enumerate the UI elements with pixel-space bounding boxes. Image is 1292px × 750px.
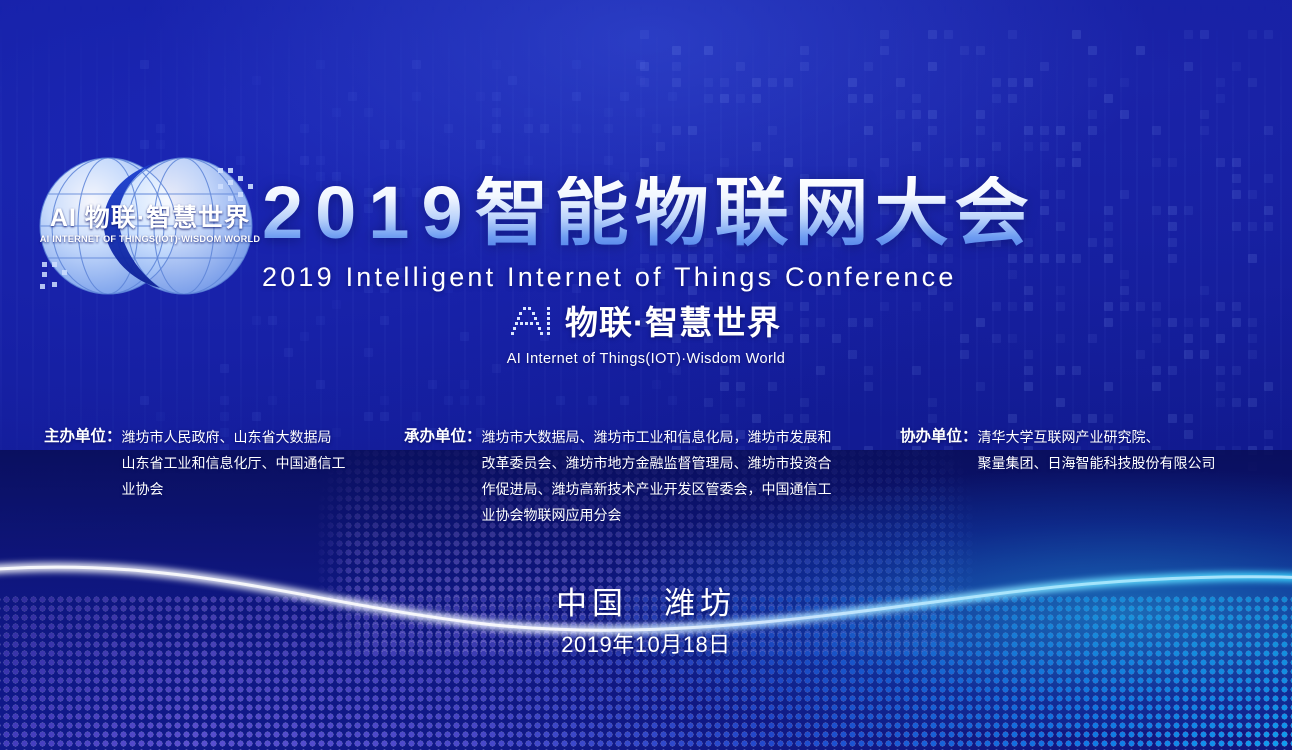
organizer-co: 协办单位： 清华大学互联网产业研究院、聚量集团、日海智能科技股份有限公司 bbox=[900, 424, 1280, 476]
main-title-english: 2019 Intelligent Internet of Things Conf… bbox=[262, 262, 1252, 293]
organizer-undertaker: 承办单位： 潍坊市大数据局、潍坊市工业和信息化局，潍坊市发展和改革委员会、潍坊市… bbox=[404, 424, 874, 528]
tagline-block: 物联·智慧世界 AI Internet of Things(IOT)·Wisdo… bbox=[0, 305, 1292, 367]
place-block: 中国 潍坊 2019年10月18日 bbox=[0, 585, 1292, 659]
organizer-undertaker-label: 承办单位： bbox=[404, 424, 482, 450]
organizer-host: 主办单位： 潍坊市人民政府、山东省大数据局山东省工业和信息化厅、中国通信工业协会 bbox=[44, 424, 404, 502]
main-title: 2019智能物联网大会 bbox=[262, 176, 1252, 250]
title-block: 2019智能物联网大会 2019 Intelligent Internet of… bbox=[262, 176, 1252, 293]
organizer-undertaker-value: 潍坊市大数据局、潍坊市工业和信息化局，潍坊市发展和改革委员会、潍坊市地方金融监督… bbox=[482, 424, 842, 528]
organizer-host-value: 潍坊市人民政府、山东省大数据局山东省工业和信息化厅、中国通信工业协会 bbox=[122, 424, 347, 502]
title-cn: 智能物联网大会 bbox=[475, 171, 1035, 254]
tagline-cn: 物联·智慧世界 bbox=[565, 306, 781, 339]
organizers-block: 主办单位： 潍坊市人民政府、山东省大数据局山东省工业和信息化厅、中国通信工业协会… bbox=[0, 424, 1292, 544]
organizer-co-value: 清华大学互联网产业研究院、聚量集团、日海智能科技股份有限公司 bbox=[978, 424, 1240, 476]
conference-banner: AI 物联·智慧世界 AI INTERNET OF THINGS(IOT)·WI… bbox=[0, 0, 1292, 750]
event-city: 中国 潍坊 bbox=[0, 585, 1292, 624]
event-date: 2019年10月18日 bbox=[0, 627, 1292, 659]
organizer-host-label: 主办单位： bbox=[44, 424, 122, 450]
tagline-en: AI Internet of Things(IOT)·Wisdom World bbox=[0, 351, 1292, 367]
organizer-co-label: 协办单位： bbox=[900, 424, 978, 450]
title-year: 2019 bbox=[262, 171, 475, 254]
logo-cn-text: AI 物联·智慧世界 bbox=[38, 206, 262, 231]
logo-en-text: AI INTERNET OF THINGS(IOT)·WISDOM WORLD bbox=[38, 235, 262, 244]
event-logo: AI 物联·智慧世界 AI INTERNET OF THINGS(IOT)·WI… bbox=[32, 150, 268, 302]
ai-dotted-icon bbox=[511, 305, 555, 339]
